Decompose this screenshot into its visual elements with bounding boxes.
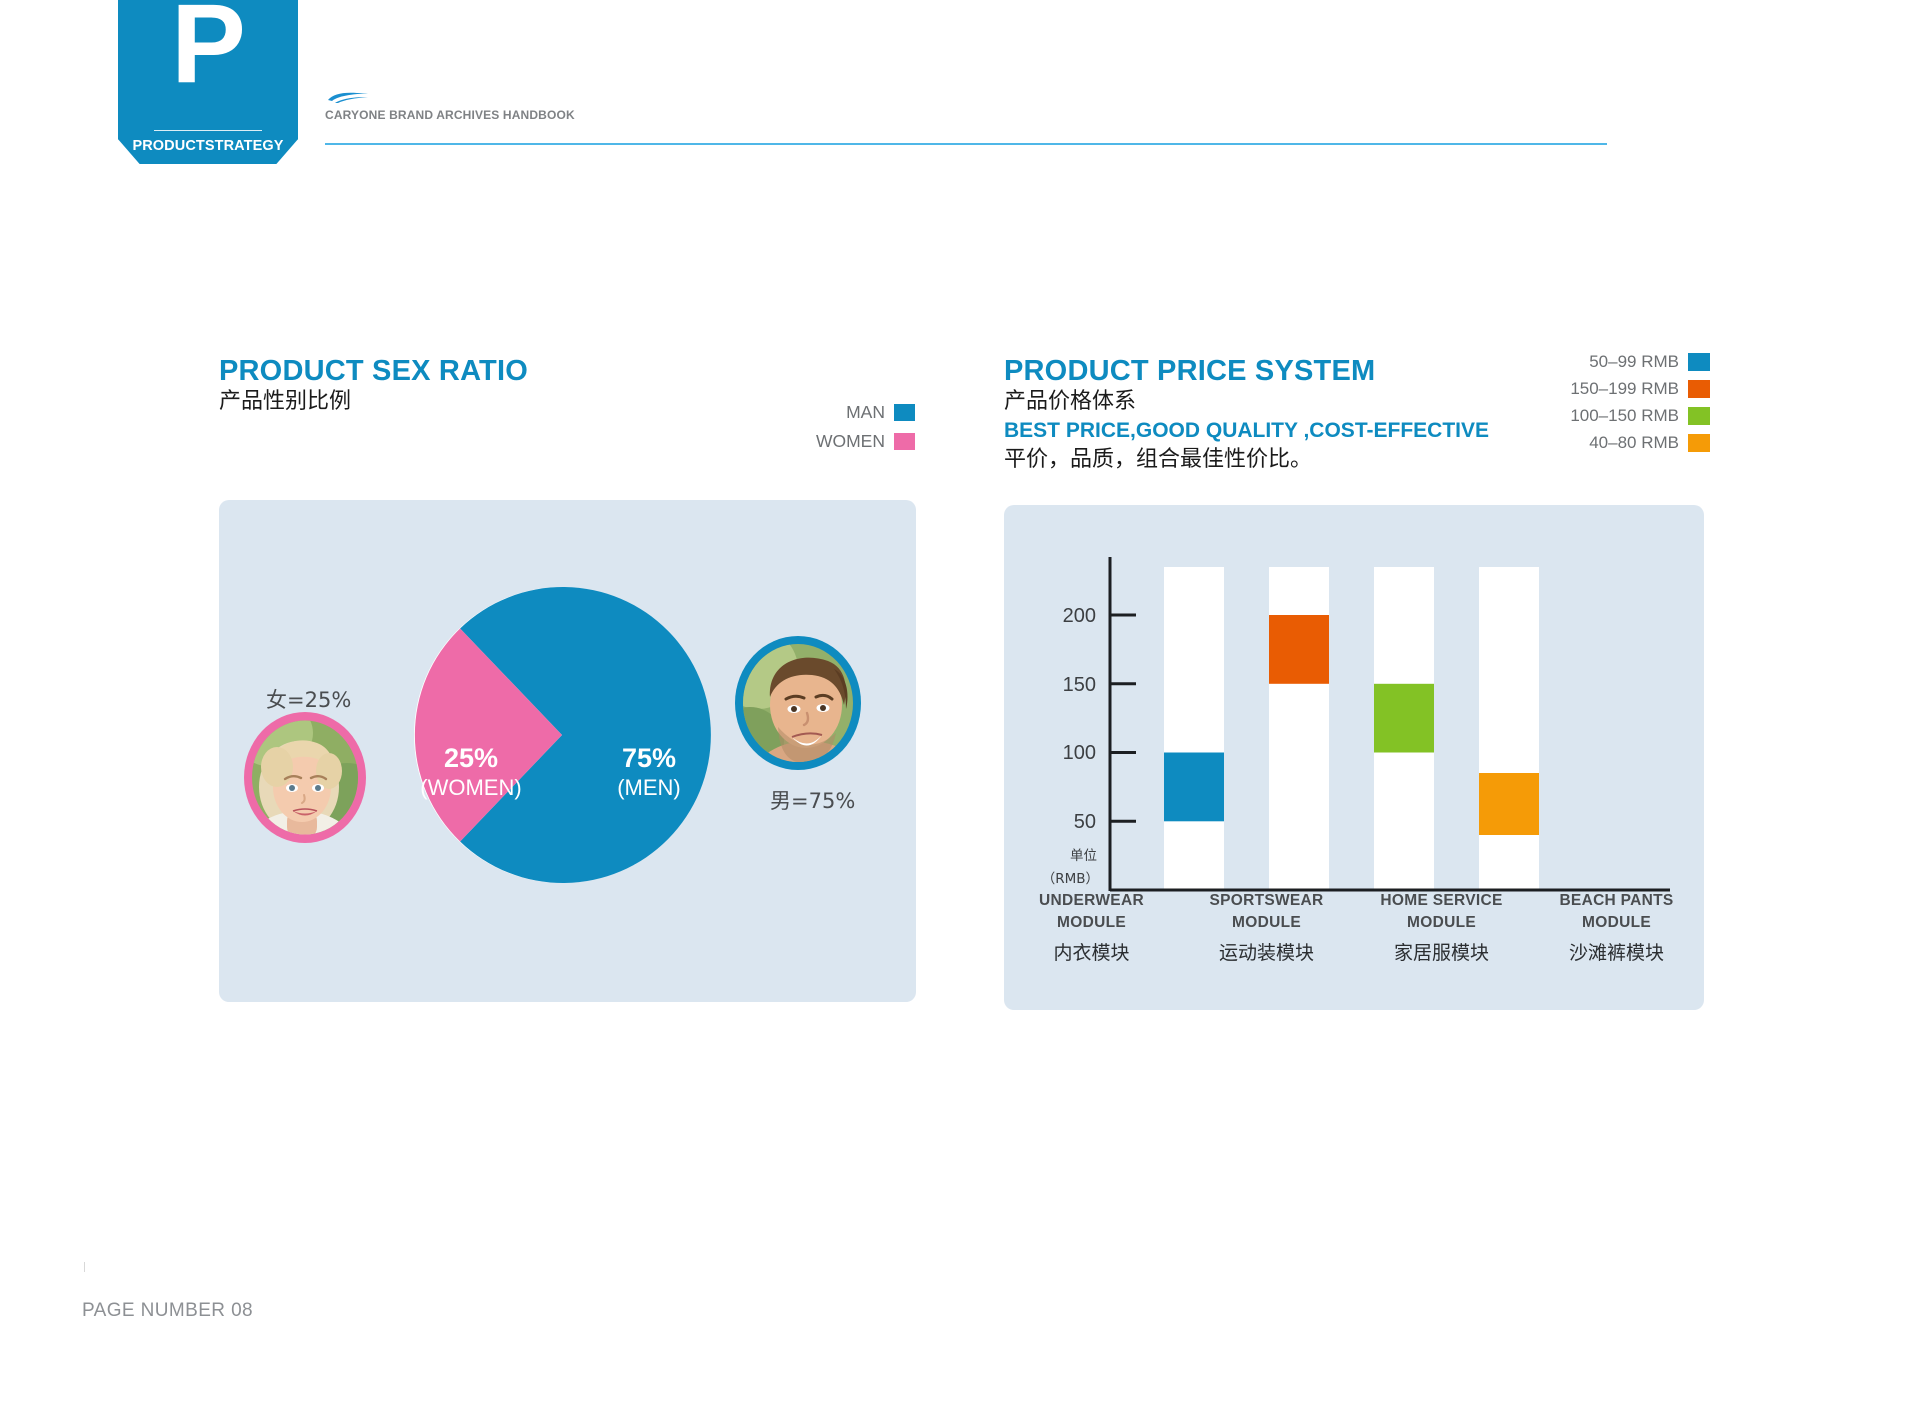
product-strategy-badge: P PRODUCTSTRATEGY [118, 0, 298, 164]
page-number-label: PAGE NUMBER 08 [82, 1300, 253, 1322]
category-sportswear-en-line2: MODULE [1181, 912, 1352, 934]
page-title-sex-ratio: PRODUCT SEX RATIO [219, 355, 528, 387]
page-title-price-system: PRODUCT PRICE SYSTEM [1004, 355, 1489, 387]
avatar-women [243, 711, 367, 844]
bar-segment-home-service [1374, 684, 1434, 753]
category-sportswear-cn: 运动装模块 [1181, 938, 1352, 968]
badge-divider [154, 130, 262, 131]
legend-item-150-199[interactable]: 150–199 RMB [1530, 375, 1710, 402]
legend-item-man[interactable]: MAN [790, 398, 915, 427]
tagline-chinese: 平价，品质，组合最佳性价比。 [1004, 445, 1489, 475]
category-beach-pants: BEACH PANTS MODULE 沙滩裤模块 [1529, 890, 1704, 968]
category-beach-pants-cn: 沙滩裤模块 [1531, 938, 1702, 968]
legend-label-50-99: 50–99 RMB [1589, 352, 1679, 372]
y-axis-unit-line2: （RMB） [1042, 871, 1099, 887]
y-tick-label-200: 200 [1063, 605, 1096, 627]
y-axis-unit-line1: 单位 [1070, 848, 1097, 864]
y-tick-label-50: 50 [1074, 811, 1096, 833]
pie-label-men: (MEN) [590, 774, 708, 802]
sex-ratio-pie-chart [412, 585, 712, 885]
legend-label-women: WOMEN [816, 431, 885, 452]
caption-men-ratio: 男=75% [770, 785, 855, 815]
category-sportswear-en-line1: SPORTSWEAR [1181, 890, 1352, 912]
handbook-title: CARYONE BRAND ARCHIVES HANDBOOK [325, 108, 575, 122]
sex-ratio-heading: PRODUCT SEX RATIO 产品性别比例 [219, 355, 528, 417]
category-home-service-en-line1: HOME SERVICE [1356, 890, 1527, 912]
price-system-legend: 50–99 RMB 150–199 RMB 100–150 RMB 40–80 … [1530, 348, 1710, 456]
category-underwear-en-line1: UNDERWEAR [1006, 890, 1177, 912]
page-header: P PRODUCTSTRATEGY CARYONE BRAND ARCHIVES… [0, 0, 1920, 180]
category-sportswear: SPORTSWEAR MODULE 运动装模块 [1179, 890, 1354, 968]
tagline-english: BEST PRICE,GOOD QUALITY ,COST-EFFECTIVE [1004, 417, 1489, 445]
sex-ratio-legend: MAN WOMEN [790, 398, 915, 456]
caption-women-ratio: 女=25% [266, 684, 351, 714]
legend-item-100-150[interactable]: 100–150 RMB [1530, 402, 1710, 429]
legend-swatch-50-99 [1688, 353, 1710, 371]
category-beach-pants-en-line2: MODULE [1531, 912, 1702, 934]
legend-item-50-99[interactable]: 50–99 RMB [1530, 348, 1710, 375]
avatar-men [734, 635, 862, 771]
handbook-mark-group: CARYONE BRAND ARCHIVES HANDBOOK [325, 108, 575, 122]
page-subtitle-price-system: 产品价格体系 [1004, 387, 1489, 417]
pie-label-women: (WOMEN) [400, 774, 542, 802]
legend-swatch-man [894, 404, 915, 421]
legend-swatch-40-80 [1688, 434, 1710, 452]
wave-swoosh-icon [327, 92, 369, 104]
legend-label-150-199: 150–199 RMB [1570, 379, 1679, 399]
bar-track-beach-pants [1479, 567, 1539, 890]
footer-tick-mark [84, 1262, 85, 1272]
bar-track-underwear [1164, 567, 1224, 890]
bar-segment-underwear [1164, 753, 1224, 822]
category-home-service: HOME SERVICE MODULE 家居服模块 [1354, 890, 1529, 968]
category-underwear: UNDERWEAR MODULE 内衣模块 [1004, 890, 1179, 968]
legend-swatch-women [894, 433, 915, 450]
legend-swatch-150-199 [1688, 380, 1710, 398]
header-divider-rule [325, 143, 1607, 145]
page-subtitle-sex-ratio: 产品性别比例 [219, 387, 528, 417]
bar-segment-beach-pants [1479, 773, 1539, 835]
bar-segment-sportswear [1269, 615, 1329, 684]
y-tick-label-150: 150 [1063, 674, 1096, 696]
legend-label-100-150: 100–150 RMB [1570, 406, 1679, 426]
badge-label: PRODUCTSTRATEGY [132, 138, 283, 154]
category-beach-pants-en-line1: BEACH PANTS [1531, 890, 1702, 912]
legend-item-40-80[interactable]: 40–80 RMB [1530, 429, 1710, 456]
legend-item-women[interactable]: WOMEN [790, 427, 915, 456]
category-home-service-en-line2: MODULE [1356, 912, 1527, 934]
price-system-heading: PRODUCT PRICE SYSTEM 产品价格体系 BEST PRICE,G… [1004, 355, 1489, 475]
pie-value-men: 75% [590, 742, 708, 774]
legend-label-40-80: 40–80 RMB [1589, 433, 1679, 453]
legend-swatch-100-150 [1688, 407, 1710, 425]
badge-letter: P [118, 0, 298, 100]
category-home-service-cn: 家居服模块 [1356, 938, 1527, 968]
bar-chart-category-labels: UNDERWEAR MODULE 内衣模块 SPORTSWEAR MODULE … [1004, 890, 1704, 968]
category-underwear-en-line2: MODULE [1006, 912, 1177, 934]
category-underwear-cn: 内衣模块 [1006, 938, 1177, 968]
pie-value-women: 25% [412, 742, 530, 774]
legend-label-man: MAN [846, 402, 885, 423]
y-tick-label-100: 100 [1063, 742, 1096, 764]
